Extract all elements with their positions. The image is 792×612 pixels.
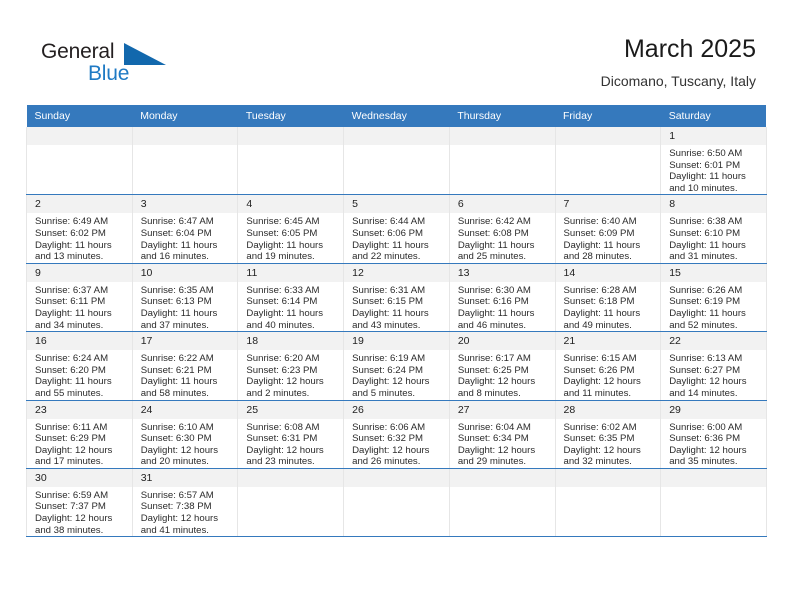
day-details (450, 145, 555, 148)
day-detail-line: and 25 minutes. (458, 251, 549, 263)
day-number (450, 469, 555, 487)
day-cell-inner: 11Sunrise: 6:33 AMSunset: 6:14 PMDayligh… (238, 264, 343, 331)
day-cell-inner: 17Sunrise: 6:22 AMSunset: 6:21 PMDayligh… (133, 332, 238, 399)
day-detail-line: Sunrise: 6:06 AM (352, 422, 443, 434)
day-detail-line: Sunrise: 6:37 AM (35, 285, 126, 297)
day-detail-line: Daylight: 12 hours (352, 445, 443, 457)
day-detail-line: Sunrise: 6:38 AM (669, 216, 760, 228)
day-number (133, 127, 238, 145)
day-cell-inner (344, 127, 449, 148)
day-details: Sunrise: 6:06 AMSunset: 6:32 PMDaylight:… (344, 419, 449, 468)
calendar-day-cell[interactable]: 14Sunrise: 6:28 AMSunset: 6:18 PMDayligh… (555, 263, 661, 331)
day-cell-inner: 18Sunrise: 6:20 AMSunset: 6:23 PMDayligh… (238, 332, 343, 399)
day-detail-line: Daylight: 11 hours (35, 376, 126, 388)
day-detail-line: Sunset: 6:14 PM (246, 296, 337, 308)
day-detail-line: Sunrise: 6:17 AM (458, 353, 549, 365)
day-detail-line: Sunrise: 6:04 AM (458, 422, 549, 434)
calendar-cell-empty (27, 127, 133, 195)
day-cell-inner: 19Sunrise: 6:19 AMSunset: 6:24 PMDayligh… (344, 332, 449, 399)
calendar-day-cell[interactable]: 13Sunrise: 6:30 AMSunset: 6:16 PMDayligh… (449, 263, 555, 331)
day-number: 4 (238, 195, 343, 213)
day-number: 24 (133, 401, 238, 419)
day-detail-line: and 29 minutes. (458, 456, 549, 468)
day-detail-line: Sunrise: 6:44 AM (352, 216, 443, 228)
day-detail-line: Sunrise: 6:28 AM (564, 285, 655, 297)
day-cell-inner: 27Sunrise: 6:04 AMSunset: 6:34 PMDayligh… (450, 401, 555, 468)
weekday-header-tuesday: Tuesday (238, 105, 344, 127)
calendar-day-cell[interactable]: 20Sunrise: 6:17 AMSunset: 6:25 PMDayligh… (449, 332, 555, 400)
day-detail-line: Daylight: 12 hours (458, 376, 549, 388)
day-detail-line: Sunrise: 6:19 AM (352, 353, 443, 365)
day-detail-line: Sunrise: 6:31 AM (352, 285, 443, 297)
day-details: Sunrise: 6:00 AMSunset: 6:36 PMDaylight:… (661, 419, 766, 468)
page-subtitle: Dicomano, Tuscany, Italy (601, 73, 756, 90)
day-detail-line: Sunrise: 6:45 AM (246, 216, 337, 228)
blue-flag-triangle-icon (124, 43, 166, 68)
calendar-day-cell[interactable]: 16Sunrise: 6:24 AMSunset: 6:20 PMDayligh… (27, 332, 133, 400)
day-cell-inner: 5Sunrise: 6:44 AMSunset: 6:06 PMDaylight… (344, 195, 449, 262)
day-number: 27 (450, 401, 555, 419)
day-detail-line: Daylight: 11 hours (35, 308, 126, 320)
day-detail-line: Sunrise: 6:50 AM (669, 148, 760, 160)
calendar-day-cell[interactable]: 21Sunrise: 6:15 AMSunset: 6:26 PMDayligh… (555, 332, 661, 400)
day-number: 9 (27, 264, 132, 282)
calendar-cell-empty (661, 468, 767, 536)
day-details: Sunrise: 6:17 AMSunset: 6:25 PMDaylight:… (450, 350, 555, 399)
day-detail-line: and 14 minutes. (669, 388, 760, 400)
calendar-day-cell[interactable]: 29Sunrise: 6:00 AMSunset: 6:36 PMDayligh… (661, 400, 767, 468)
day-detail-line: and 22 minutes. (352, 251, 443, 263)
day-details (556, 145, 661, 148)
day-detail-line: and 28 minutes. (564, 251, 655, 263)
day-detail-line: Daylight: 12 hours (458, 445, 549, 457)
title-block: March 2025 Dicomano, Tuscany, Italy (601, 34, 756, 90)
day-details (344, 145, 449, 148)
day-detail-line: and 8 minutes. (458, 388, 549, 400)
day-number: 26 (344, 401, 449, 419)
day-detail-line: Sunset: 6:19 PM (669, 296, 760, 308)
day-detail-line: Sunset: 6:08 PM (458, 228, 549, 240)
day-detail-line: Sunset: 6:23 PM (246, 365, 337, 377)
day-cell-inner (238, 469, 343, 490)
day-details: Sunrise: 6:28 AMSunset: 6:18 PMDaylight:… (556, 282, 661, 331)
day-cell-inner: 12Sunrise: 6:31 AMSunset: 6:15 PMDayligh… (344, 264, 449, 331)
day-detail-line: and 19 minutes. (246, 251, 337, 263)
day-number (238, 127, 343, 145)
day-detail-line: Sunset: 6:04 PM (141, 228, 232, 240)
day-detail-line: Sunset: 6:35 PM (564, 433, 655, 445)
calendar-day-cell[interactable]: 23Sunrise: 6:11 AMSunset: 6:29 PMDayligh… (27, 400, 133, 468)
calendar-body: 1Sunrise: 6:50 AMSunset: 6:01 PMDaylight… (27, 127, 767, 537)
day-number: 28 (556, 401, 661, 419)
day-detail-line: Daylight: 12 hours (669, 445, 760, 457)
day-detail-line: Sunset: 6:26 PM (564, 365, 655, 377)
day-detail-line: Daylight: 12 hours (35, 445, 126, 457)
day-detail-line: Sunset: 6:15 PM (352, 296, 443, 308)
day-detail-line: Daylight: 11 hours (141, 376, 232, 388)
day-detail-line: and 41 minutes. (141, 525, 232, 537)
calendar-day-cell[interactable]: 22Sunrise: 6:13 AMSunset: 6:27 PMDayligh… (661, 332, 767, 400)
day-detail-line: and 40 minutes. (246, 320, 337, 332)
day-number: 19 (344, 332, 449, 350)
day-detail-line: Sunrise: 6:49 AM (35, 216, 126, 228)
calendar-day-cell[interactable]: 7Sunrise: 6:40 AMSunset: 6:09 PMDaylight… (555, 195, 661, 263)
day-detail-line: and 32 minutes. (564, 456, 655, 468)
day-number: 23 (27, 401, 132, 419)
day-detail-line: and 52 minutes. (669, 320, 760, 332)
day-number: 21 (556, 332, 661, 350)
day-cell-inner: 23Sunrise: 6:11 AMSunset: 6:29 PMDayligh… (27, 401, 132, 468)
day-details (344, 487, 449, 490)
day-number: 8 (661, 195, 766, 213)
calendar-week-row: 9Sunrise: 6:37 AMSunset: 6:11 PMDaylight… (27, 263, 767, 331)
day-details: Sunrise: 6:04 AMSunset: 6:34 PMDaylight:… (450, 419, 555, 468)
calendar-day-cell[interactable]: 15Sunrise: 6:26 AMSunset: 6:19 PMDayligh… (661, 263, 767, 331)
day-cell-inner: 2Sunrise: 6:49 AMSunset: 6:02 PMDaylight… (27, 195, 132, 262)
day-number: 31 (133, 469, 238, 487)
day-detail-line: Daylight: 12 hours (35, 513, 126, 525)
calendar-week-row: 30Sunrise: 6:59 AMSunset: 7:37 PMDayligh… (27, 468, 767, 536)
day-details (133, 145, 238, 148)
day-detail-line: Sunset: 6:20 PM (35, 365, 126, 377)
day-number: 1 (661, 127, 766, 145)
day-cell-inner: 10Sunrise: 6:35 AMSunset: 6:13 PMDayligh… (133, 264, 238, 331)
day-number: 11 (238, 264, 343, 282)
weekday-header-wednesday: Wednesday (344, 105, 450, 127)
day-detail-line: Sunset: 7:37 PM (35, 501, 126, 513)
day-number (27, 127, 132, 145)
day-number: 25 (238, 401, 343, 419)
calendar-page: General Blue March 2025 Dicomano, Tuscan… (0, 0, 792, 612)
calendar-grid: SundayMondayTuesdayWednesdayThursdayFrid… (26, 105, 767, 537)
day-detail-line: Daylight: 11 hours (141, 240, 232, 252)
calendar-cell-empty (132, 127, 238, 195)
day-details (661, 487, 766, 490)
day-detail-line: Daylight: 12 hours (564, 445, 655, 457)
day-detail-line: and 2 minutes. (246, 388, 337, 400)
day-detail-line: and 5 minutes. (352, 388, 443, 400)
day-cell-inner: 26Sunrise: 6:06 AMSunset: 6:32 PMDayligh… (344, 401, 449, 468)
day-detail-line: Sunset: 6:36 PM (669, 433, 760, 445)
day-cell-inner: 4Sunrise: 6:45 AMSunset: 6:05 PMDaylight… (238, 195, 343, 262)
calendar-week-row: 2Sunrise: 6:49 AMSunset: 6:02 PMDaylight… (27, 195, 767, 263)
day-detail-line: and 17 minutes. (35, 456, 126, 468)
calendar-day-cell[interactable]: 26Sunrise: 6:06 AMSunset: 6:32 PMDayligh… (344, 400, 450, 468)
calendar-day-cell[interactable]: 9Sunrise: 6:37 AMSunset: 6:11 PMDaylight… (27, 263, 133, 331)
day-detail-line: Daylight: 11 hours (246, 240, 337, 252)
day-details: Sunrise: 6:42 AMSunset: 6:08 PMDaylight:… (450, 213, 555, 262)
day-cell-inner (238, 127, 343, 148)
day-cell-inner (344, 469, 449, 490)
day-detail-line: Daylight: 12 hours (246, 445, 337, 457)
day-detail-line: and 23 minutes. (246, 456, 337, 468)
day-number: 12 (344, 264, 449, 282)
day-detail-line: Sunset: 6:30 PM (141, 433, 232, 445)
day-details (238, 145, 343, 148)
calendar-day-cell[interactable]: 12Sunrise: 6:31 AMSunset: 6:15 PMDayligh… (344, 263, 450, 331)
page-header: General Blue March 2025 Dicomano, Tuscan… (0, 0, 792, 104)
day-detail-line: Daylight: 12 hours (246, 376, 337, 388)
day-detail-line: Daylight: 11 hours (458, 240, 549, 252)
day-detail-line: Sunset: 6:34 PM (458, 433, 549, 445)
day-details: Sunrise: 6:22 AMSunset: 6:21 PMDaylight:… (133, 350, 238, 399)
day-cell-inner: 30Sunrise: 6:59 AMSunset: 7:37 PMDayligh… (27, 469, 132, 536)
day-cell-inner: 14Sunrise: 6:28 AMSunset: 6:18 PMDayligh… (556, 264, 661, 331)
day-details: Sunrise: 6:08 AMSunset: 6:31 PMDaylight:… (238, 419, 343, 468)
weekday-header-thursday: Thursday (449, 105, 555, 127)
day-detail-line: Sunset: 6:06 PM (352, 228, 443, 240)
brand-name-blue: Blue (88, 62, 129, 86)
calendar-cell-empty (449, 468, 555, 536)
day-details (450, 487, 555, 490)
day-number: 20 (450, 332, 555, 350)
day-detail-line: Sunset: 6:13 PM (141, 296, 232, 308)
brand-name-general: General (41, 40, 114, 64)
day-detail-line: Daylight: 11 hours (352, 240, 443, 252)
day-detail-line: Daylight: 12 hours (564, 376, 655, 388)
weekday-header-sunday: Sunday (27, 105, 133, 127)
day-number (556, 469, 661, 487)
day-details: Sunrise: 6:49 AMSunset: 6:02 PMDaylight:… (27, 213, 132, 262)
calendar-day-cell[interactable]: 3Sunrise: 6:47 AMSunset: 6:04 PMDaylight… (132, 195, 238, 263)
calendar-week-row: 1Sunrise: 6:50 AMSunset: 6:01 PMDaylight… (27, 127, 767, 195)
day-detail-line: Sunset: 6:05 PM (246, 228, 337, 240)
calendar-day-cell[interactable]: 24Sunrise: 6:10 AMSunset: 6:30 PMDayligh… (132, 400, 238, 468)
calendar-day-cell[interactable]: 30Sunrise: 6:59 AMSunset: 7:37 PMDayligh… (27, 468, 133, 536)
day-cell-inner: 15Sunrise: 6:26 AMSunset: 6:19 PMDayligh… (661, 264, 766, 331)
calendar-day-cell[interactable]: 27Sunrise: 6:04 AMSunset: 6:34 PMDayligh… (449, 400, 555, 468)
calendar-day-cell[interactable]: 19Sunrise: 6:19 AMSunset: 6:24 PMDayligh… (344, 332, 450, 400)
day-detail-line: Daylight: 11 hours (141, 308, 232, 320)
day-cell-inner: 16Sunrise: 6:24 AMSunset: 6:20 PMDayligh… (27, 332, 132, 399)
day-details: Sunrise: 6:44 AMSunset: 6:06 PMDaylight:… (344, 213, 449, 262)
day-number: 7 (556, 195, 661, 213)
day-detail-line: Sunrise: 6:22 AM (141, 353, 232, 365)
brand-logo[interactable]: General Blue (41, 40, 221, 92)
day-detail-line: Sunset: 6:25 PM (458, 365, 549, 377)
day-details: Sunrise: 6:24 AMSunset: 6:20 PMDaylight:… (27, 350, 132, 399)
weekday-header-saturday: Saturday (661, 105, 767, 127)
day-cell-inner (661, 469, 766, 490)
day-cell-inner (450, 469, 555, 490)
day-details: Sunrise: 6:31 AMSunset: 6:15 PMDaylight:… (344, 282, 449, 331)
calendar-cell-empty (344, 127, 450, 195)
weekday-header-monday: Monday (132, 105, 238, 127)
day-detail-line: Sunset: 6:16 PM (458, 296, 549, 308)
day-number: 30 (27, 469, 132, 487)
day-detail-line: and 13 minutes. (35, 251, 126, 263)
day-details: Sunrise: 6:19 AMSunset: 6:24 PMDaylight:… (344, 350, 449, 399)
day-details: Sunrise: 6:30 AMSunset: 6:16 PMDaylight:… (450, 282, 555, 331)
day-cell-inner: 31Sunrise: 6:57 AMSunset: 7:38 PMDayligh… (133, 469, 238, 536)
day-detail-line: Daylight: 11 hours (35, 240, 126, 252)
day-detail-line: Daylight: 11 hours (246, 308, 337, 320)
weekday-header-friday: Friday (555, 105, 661, 127)
calendar-day-cell[interactable]: 11Sunrise: 6:33 AMSunset: 6:14 PMDayligh… (238, 263, 344, 331)
day-cell-inner (556, 127, 661, 148)
calendar-header-row: SundayMondayTuesdayWednesdayThursdayFrid… (27, 105, 767, 127)
page-title: March 2025 (601, 34, 756, 64)
day-details: Sunrise: 6:33 AMSunset: 6:14 PMDaylight:… (238, 282, 343, 331)
day-detail-line: Sunrise: 6:11 AM (35, 422, 126, 434)
calendar-day-cell[interactable]: 28Sunrise: 6:02 AMSunset: 6:35 PMDayligh… (555, 400, 661, 468)
calendar-week-row: 23Sunrise: 6:11 AMSunset: 6:29 PMDayligh… (27, 400, 767, 468)
day-cell-inner: 21Sunrise: 6:15 AMSunset: 6:26 PMDayligh… (556, 332, 661, 399)
calendar-cell-empty (555, 127, 661, 195)
day-detail-line: Daylight: 11 hours (669, 308, 760, 320)
day-details: Sunrise: 6:37 AMSunset: 6:11 PMDaylight:… (27, 282, 132, 331)
day-details: Sunrise: 6:20 AMSunset: 6:23 PMDaylight:… (238, 350, 343, 399)
day-detail-line: and 20 minutes. (141, 456, 232, 468)
day-cell-inner: 3Sunrise: 6:47 AMSunset: 6:04 PMDaylight… (133, 195, 238, 262)
day-detail-line: Sunrise: 6:02 AM (564, 422, 655, 434)
day-detail-line: Sunrise: 6:15 AM (564, 353, 655, 365)
day-details: Sunrise: 6:50 AMSunset: 6:01 PMDaylight:… (661, 145, 766, 194)
day-detail-line: Sunrise: 6:59 AM (35, 490, 126, 502)
day-detail-line: Sunrise: 6:00 AM (669, 422, 760, 434)
day-detail-line: Daylight: 11 hours (352, 308, 443, 320)
day-cell-inner: 20Sunrise: 6:17 AMSunset: 6:25 PMDayligh… (450, 332, 555, 399)
day-number (556, 127, 661, 145)
day-detail-line: and 46 minutes. (458, 320, 549, 332)
day-cell-inner: 1Sunrise: 6:50 AMSunset: 6:01 PMDaylight… (661, 127, 766, 194)
day-detail-line: Sunset: 6:11 PM (35, 296, 126, 308)
day-cell-inner: 25Sunrise: 6:08 AMSunset: 6:31 PMDayligh… (238, 401, 343, 468)
day-details: Sunrise: 6:35 AMSunset: 6:13 PMDaylight:… (133, 282, 238, 331)
day-detail-line: Sunset: 6:10 PM (669, 228, 760, 240)
day-cell-inner: 7Sunrise: 6:40 AMSunset: 6:09 PMDaylight… (556, 195, 661, 262)
day-details: Sunrise: 6:45 AMSunset: 6:05 PMDaylight:… (238, 213, 343, 262)
day-number (344, 469, 449, 487)
day-detail-line: Sunset: 6:31 PM (246, 433, 337, 445)
calendar-day-cell[interactable]: 31Sunrise: 6:57 AMSunset: 7:38 PMDayligh… (132, 468, 238, 536)
day-detail-line: Daylight: 11 hours (669, 171, 760, 183)
day-detail-line: Sunrise: 6:24 AM (35, 353, 126, 365)
day-details: Sunrise: 6:02 AMSunset: 6:35 PMDaylight:… (556, 419, 661, 468)
day-number (238, 469, 343, 487)
day-number: 5 (344, 195, 449, 213)
day-cell-inner: 24Sunrise: 6:10 AMSunset: 6:30 PMDayligh… (133, 401, 238, 468)
day-details: Sunrise: 6:38 AMSunset: 6:10 PMDaylight:… (661, 213, 766, 262)
day-details: Sunrise: 6:15 AMSunset: 6:26 PMDaylight:… (556, 350, 661, 399)
day-number: 14 (556, 264, 661, 282)
day-detail-line: Sunset: 6:18 PM (564, 296, 655, 308)
day-detail-line: Sunset: 6:01 PM (669, 160, 760, 172)
day-details: Sunrise: 6:47 AMSunset: 6:04 PMDaylight:… (133, 213, 238, 262)
day-detail-line: Daylight: 11 hours (669, 240, 760, 252)
day-detail-line: Sunrise: 6:13 AM (669, 353, 760, 365)
day-detail-line: Sunrise: 6:57 AM (141, 490, 232, 502)
day-details: Sunrise: 6:10 AMSunset: 6:30 PMDaylight:… (133, 419, 238, 468)
day-details: Sunrise: 6:26 AMSunset: 6:19 PMDaylight:… (661, 282, 766, 331)
day-detail-line: Daylight: 12 hours (669, 376, 760, 388)
day-detail-line: Sunset: 6:21 PM (141, 365, 232, 377)
day-number: 22 (661, 332, 766, 350)
day-cell-inner: 9Sunrise: 6:37 AMSunset: 6:11 PMDaylight… (27, 264, 132, 331)
day-details: Sunrise: 6:57 AMSunset: 7:38 PMDaylight:… (133, 487, 238, 536)
day-cell-inner: 13Sunrise: 6:30 AMSunset: 6:16 PMDayligh… (450, 264, 555, 331)
day-cell-inner: 8Sunrise: 6:38 AMSunset: 6:10 PMDaylight… (661, 195, 766, 262)
calendar-day-cell[interactable]: 8Sunrise: 6:38 AMSunset: 6:10 PMDaylight… (661, 195, 767, 263)
day-cell-inner: 6Sunrise: 6:42 AMSunset: 6:08 PMDaylight… (450, 195, 555, 262)
day-detail-line: Sunrise: 6:26 AM (669, 285, 760, 297)
calendar-day-cell[interactable]: 6Sunrise: 6:42 AMSunset: 6:08 PMDaylight… (449, 195, 555, 263)
day-details (238, 487, 343, 490)
day-detail-line: Sunrise: 6:40 AM (564, 216, 655, 228)
day-number (661, 469, 766, 487)
day-cell-inner (27, 127, 132, 148)
day-cell-inner: 22Sunrise: 6:13 AMSunset: 6:27 PMDayligh… (661, 332, 766, 399)
day-cell-inner: 29Sunrise: 6:00 AMSunset: 6:36 PMDayligh… (661, 401, 766, 468)
day-number: 3 (133, 195, 238, 213)
day-cell-inner (133, 127, 238, 148)
calendar-cell-empty (238, 127, 344, 195)
day-detail-line: Sunrise: 6:08 AM (246, 422, 337, 434)
day-detail-line: and 10 minutes. (669, 183, 760, 195)
day-detail-line: Sunrise: 6:42 AM (458, 216, 549, 228)
day-detail-line: Sunrise: 6:20 AM (246, 353, 337, 365)
day-detail-line: Sunset: 6:29 PM (35, 433, 126, 445)
day-number (344, 127, 449, 145)
day-number (450, 127, 555, 145)
day-cell-inner: 28Sunrise: 6:02 AMSunset: 6:35 PMDayligh… (556, 401, 661, 468)
calendar-week-row: 16Sunrise: 6:24 AMSunset: 6:20 PMDayligh… (27, 332, 767, 400)
day-number: 13 (450, 264, 555, 282)
day-detail-line: Sunrise: 6:10 AM (141, 422, 232, 434)
day-number: 10 (133, 264, 238, 282)
day-number: 6 (450, 195, 555, 213)
day-details (556, 487, 661, 490)
day-detail-line: Sunset: 6:27 PM (669, 365, 760, 377)
day-detail-line: and 11 minutes. (564, 388, 655, 400)
calendar-cell-empty (555, 468, 661, 536)
calendar-cell-empty (344, 468, 450, 536)
day-detail-line: Daylight: 11 hours (458, 308, 549, 320)
day-details: Sunrise: 6:13 AMSunset: 6:27 PMDaylight:… (661, 350, 766, 399)
day-number: 15 (661, 264, 766, 282)
day-detail-line: Sunset: 6:09 PM (564, 228, 655, 240)
day-number: 2 (27, 195, 132, 213)
day-detail-line: and 43 minutes. (352, 320, 443, 332)
day-detail-line: Sunset: 6:24 PM (352, 365, 443, 377)
day-detail-line: Sunrise: 6:47 AM (141, 216, 232, 228)
day-detail-line: and 58 minutes. (141, 388, 232, 400)
day-detail-line: and 35 minutes. (669, 456, 760, 468)
day-number: 16 (27, 332, 132, 350)
calendar-day-cell[interactable]: 2Sunrise: 6:49 AMSunset: 6:02 PMDaylight… (27, 195, 133, 263)
day-detail-line: and 16 minutes. (141, 251, 232, 263)
calendar-day-cell[interactable]: 25Sunrise: 6:08 AMSunset: 6:31 PMDayligh… (238, 400, 344, 468)
day-detail-line: Daylight: 12 hours (352, 376, 443, 388)
calendar-day-cell[interactable]: 10Sunrise: 6:35 AMSunset: 6:13 PMDayligh… (132, 263, 238, 331)
day-detail-line: and 31 minutes. (669, 251, 760, 263)
day-detail-line: Daylight: 12 hours (141, 513, 232, 525)
day-cell-inner (450, 127, 555, 148)
day-detail-line: Sunrise: 6:35 AM (141, 285, 232, 297)
day-number: 29 (661, 401, 766, 419)
calendar-day-cell[interactable]: 4Sunrise: 6:45 AMSunset: 6:05 PMDaylight… (238, 195, 344, 263)
calendar-day-cell[interactable]: 1Sunrise: 6:50 AMSunset: 6:01 PMDaylight… (661, 127, 767, 195)
calendar-day-cell[interactable]: 5Sunrise: 6:44 AMSunset: 6:06 PMDaylight… (344, 195, 450, 263)
day-detail-line: Daylight: 11 hours (564, 240, 655, 252)
day-detail-line: and 49 minutes. (564, 320, 655, 332)
calendar-day-cell[interactable]: 17Sunrise: 6:22 AMSunset: 6:21 PMDayligh… (132, 332, 238, 400)
calendar-day-cell[interactable]: 18Sunrise: 6:20 AMSunset: 6:23 PMDayligh… (238, 332, 344, 400)
day-detail-line: Daylight: 11 hours (564, 308, 655, 320)
day-details (27, 145, 132, 148)
day-detail-line: and 26 minutes. (352, 456, 443, 468)
day-detail-line: Daylight: 12 hours (141, 445, 232, 457)
